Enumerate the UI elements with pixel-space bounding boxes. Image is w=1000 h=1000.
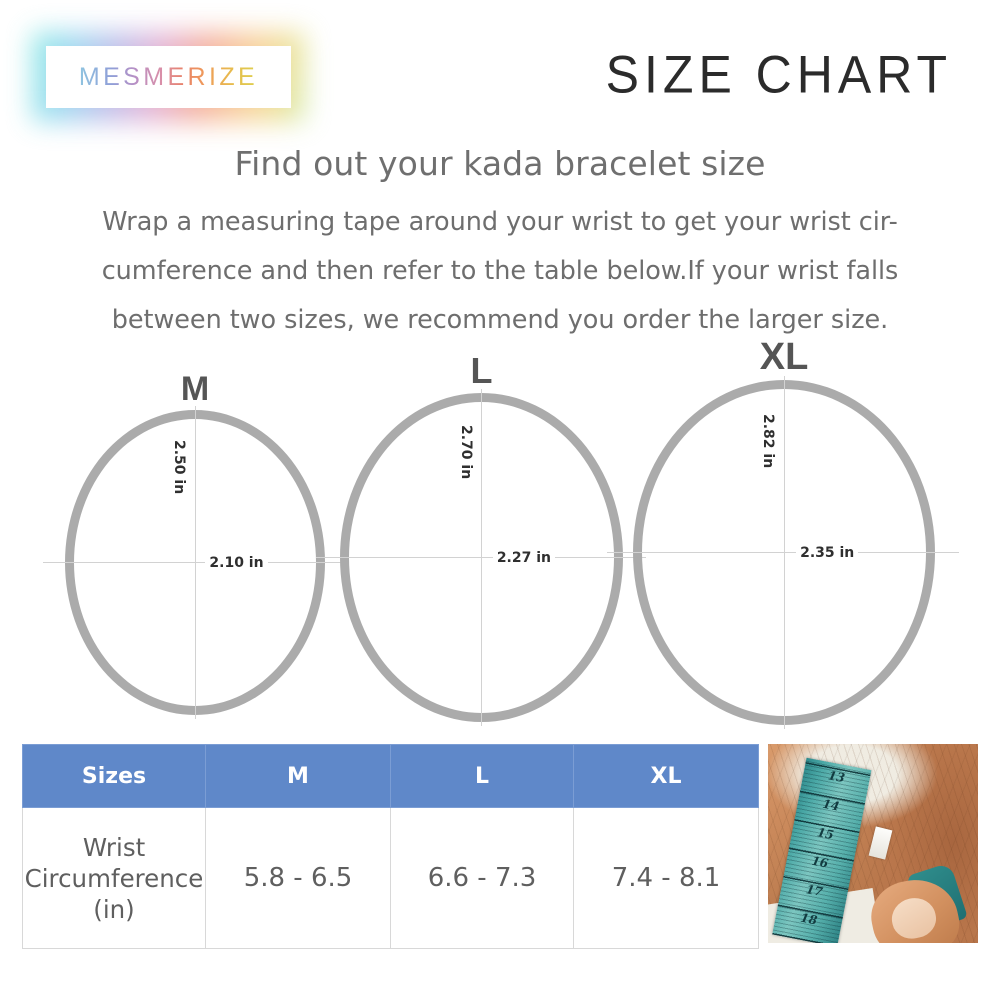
- table-header-xl: XL: [574, 745, 759, 808]
- diagram-width-label-l: 2.27 in: [493, 550, 555, 566]
- size-chart-page: MESMERIZE SIZE CHART Find out your kada …: [0, 0, 1000, 1000]
- oval-horizontal-axis-m: [43, 562, 347, 563]
- diagram-width-label-m: 2.10 in: [205, 555, 267, 571]
- diagram-height-label-m: 2.50 in: [171, 438, 187, 496]
- row-label-wrist-circumference: Wrist Circumference (in): [23, 808, 206, 949]
- table-header-l: L: [391, 745, 574, 808]
- table-row: Wrist Circumference (in) 5.8 - 6.5 6.6 -…: [23, 808, 759, 949]
- cell-wrist-circumference-m: 5.8 - 6.5: [206, 808, 391, 949]
- bracelet-diagrams: M 2.50 in 2.10 in L 2.70 in 2.27 in XL 2…: [0, 0, 1000, 760]
- diagram-height-label-l: 2.70 in: [458, 423, 474, 481]
- photo-thumbnail: [888, 894, 939, 942]
- cell-wrist-circumference-l: 6.6 - 7.3: [391, 808, 574, 949]
- table-header-row: Sizes M L XL: [23, 745, 759, 808]
- diagram-size-label-m: M: [65, 372, 325, 406]
- wrist-measurement-photo: 13 14 15 16 17 18: [768, 744, 978, 943]
- diagram-width-label-xl: 2.35 in: [796, 545, 858, 561]
- diagram-size-label-l: L: [340, 353, 623, 389]
- size-table: Sizes M L XL Wrist Circumference (in) 5.…: [22, 744, 759, 949]
- diagram-height-label-xl: 2.82 in: [760, 412, 776, 470]
- bracelet-diagram-l: L 2.70 in 2.27 in: [340, 393, 623, 722]
- cell-wrist-circumference-xl: 7.4 - 8.1: [574, 808, 759, 949]
- table-header-m: M: [206, 745, 391, 808]
- oval-horizontal-axis-l: [316, 557, 646, 558]
- oval-horizontal-axis-xl: [607, 552, 959, 553]
- bracelet-diagram-xl: XL 2.82 in 2.35 in: [633, 380, 935, 725]
- table-header-sizes: Sizes: [23, 745, 206, 808]
- bracelet-diagram-m: M 2.50 in 2.10 in: [65, 410, 325, 715]
- diagram-size-label-xl: XL: [633, 338, 935, 376]
